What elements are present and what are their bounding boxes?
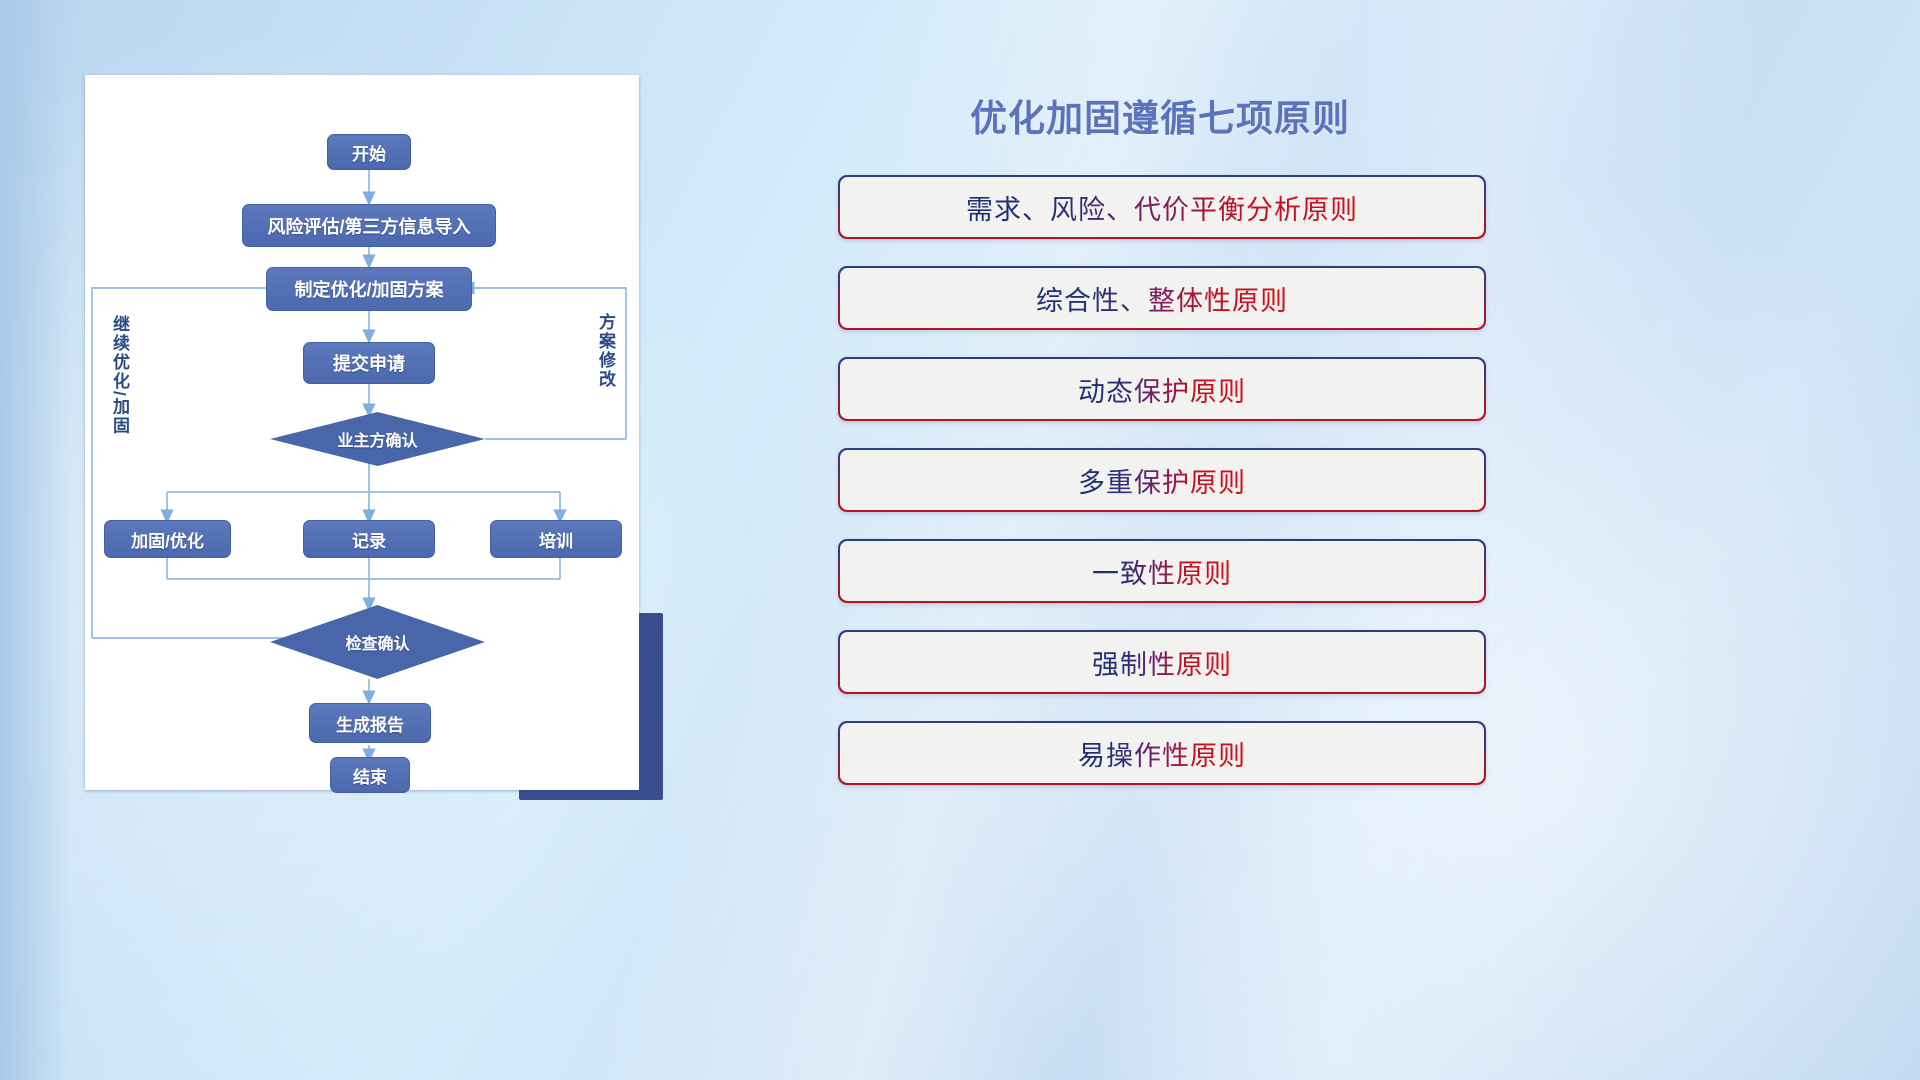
flow-node-label: 记录 <box>352 527 386 552</box>
flow-edge-label-text: 方案修改 <box>596 313 615 389</box>
principle-item-label: 动态保护原则 <box>1078 370 1246 409</box>
principle-item-label: 多重保护原则 <box>1078 461 1246 500</box>
principle-item-body: 综合性、整体性原则 <box>840 268 1485 329</box>
flow-edge-label-plan-revision: 方案修改 <box>593 313 618 408</box>
background-left-edge <box>0 0 70 1080</box>
principle-item-label: 综合性、整体性原则 <box>1036 279 1288 318</box>
principle-item[interactable]: 动态保护原则 <box>838 357 1486 421</box>
principle-item-label: 强制性原则 <box>1092 643 1232 682</box>
flow-node-label: 风险评估/第三方信息导入 <box>268 213 471 239</box>
flow-node-label: 提交申请 <box>333 350 405 376</box>
principle-item-body: 易操作性原则 <box>840 723 1485 784</box>
principle-item[interactable]: 综合性、整体性原则 <box>838 266 1486 330</box>
principle-item-body: 多重保护原则 <box>840 450 1485 511</box>
flow-node-label: 加固/优化 <box>131 527 204 552</box>
flow-edge-label-text: 继续优化/加固 <box>110 315 129 436</box>
flow-node-label: 业主方确认 <box>337 427 417 451</box>
principle-item-body: 需求、风险、代价平衡分析原则 <box>840 177 1485 238</box>
flow-node-record[interactable]: 记录 <box>303 520 435 558</box>
flow-node-label: 制定优化/加固方案 <box>294 276 443 302</box>
flow-node-generate-report[interactable]: 生成报告 <box>309 703 431 743</box>
flow-node-training[interactable]: 培训 <box>490 520 622 558</box>
principle-item[interactable]: 一致性原则 <box>838 539 1486 603</box>
flow-node-reinforce-optimize[interactable]: 加固/优化 <box>104 520 231 558</box>
principle-item-body: 动态保护原则 <box>840 359 1485 420</box>
flow-node-label: 检查确认 <box>345 630 409 654</box>
principle-item[interactable]: 易操作性原则 <box>838 721 1486 785</box>
flow-node-end[interactable]: 结束 <box>330 757 410 793</box>
principle-item[interactable]: 强制性原则 <box>838 630 1486 694</box>
principles-panel: 优化加固遵循七项原则 需求、风险、代价平衡分析原则 综合性、整体性原则 动态保护… <box>820 70 1500 830</box>
principle-item-body: 一致性原则 <box>840 541 1485 602</box>
flow-node-label: 生成报告 <box>336 711 404 736</box>
flow-node-label: 培训 <box>539 527 573 552</box>
flow-node-label: 开始 <box>352 140 386 165</box>
flow-node-start[interactable]: 开始 <box>327 134 411 170</box>
flow-node-label: 结束 <box>353 763 387 788</box>
principle-item[interactable]: 多重保护原则 <box>838 448 1486 512</box>
principles-title: 优化加固遵循七项原则 <box>820 88 1500 142</box>
principle-item-label: 易操作性原则 <box>1078 734 1246 773</box>
flow-node-make-plan[interactable]: 制定优化/加固方案 <box>266 267 472 311</box>
flow-node-submit-application[interactable]: 提交申请 <box>303 342 435 384</box>
flow-node-risk-assessment[interactable]: 风险评估/第三方信息导入 <box>242 204 496 247</box>
principle-item-label: 需求、风险、代价平衡分析原则 <box>966 188 1358 227</box>
flow-edge-label-continue-optimize: 继续优化/加固 <box>107 315 132 450</box>
principle-item-label: 一致性原则 <box>1092 552 1232 591</box>
flow-decision-inspection-confirm[interactable]: 检查确认 <box>270 605 485 679</box>
flowchart-card: 开始 风险评估/第三方信息导入 制定优化/加固方案 提交申请 业主方确认 加固/… <box>85 75 639 790</box>
principles-list: 需求、风险、代价平衡分析原则 综合性、整体性原则 动态保护原则 多重保护原则 一… <box>838 175 1486 812</box>
principle-item-body: 强制性原则 <box>840 632 1485 693</box>
flow-decision-owner-confirm[interactable]: 业主方确认 <box>270 412 485 466</box>
principle-item[interactable]: 需求、风险、代价平衡分析原则 <box>838 175 1486 239</box>
